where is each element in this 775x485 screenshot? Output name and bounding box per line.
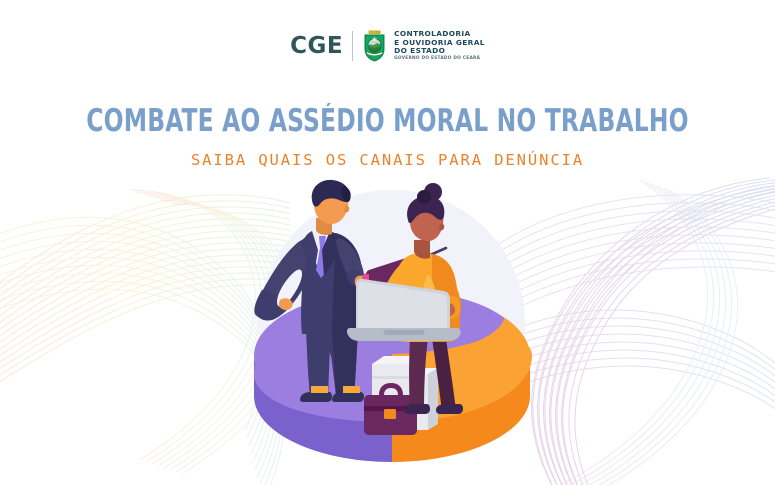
logo-subtitle: GOVERNO DO ESTADO DO CEARÁ [394, 57, 485, 62]
poster-canvas: CGE [0, 0, 775, 485]
page-subtitle: SAIBA QUAIS OS CANAIS PARA DENÚNCIA [0, 150, 775, 170]
ceara-coat-of-arms-icon [362, 30, 387, 62]
cge-logo: CGE [0, 30, 775, 62]
logo-acronym: CGE [290, 35, 343, 58]
logo-divider [352, 31, 353, 61]
page-title: COMBATE AO ASSÉDIO MORAL NO TRABALHO [62, 104, 713, 138]
logo-text-block: CONTROLADORIA E OUVIDORIA GERAL DO ESTAD… [394, 30, 485, 61]
briefcase-clasp [384, 409, 396, 419]
pie-chart-people-illustration [232, 178, 552, 485]
logo-title-line-3: DO ESTADO [394, 47, 485, 55]
